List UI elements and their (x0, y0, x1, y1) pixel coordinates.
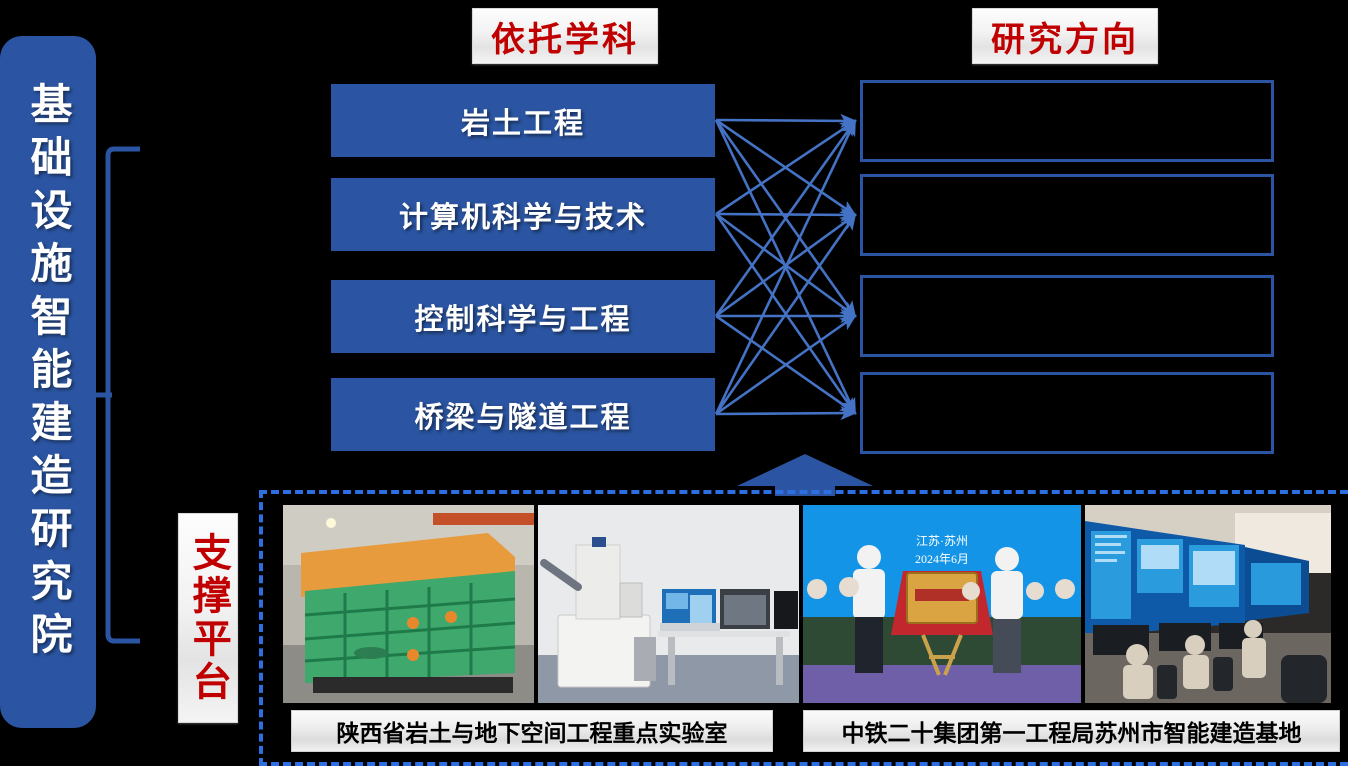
platform-caption-1: 中铁二十集团第一工程局苏州市智能建造基地 (803, 710, 1340, 752)
connector-0-0 (716, 120, 855, 121)
platform-caption-0: 陕西省岩土与地下空间工程重点实验室 (291, 710, 773, 752)
connector-1-0 (716, 121, 855, 214)
header-chip-disciplines-label: 依托学科 (491, 12, 639, 61)
discipline-label-2: 控制科学与工程 (414, 296, 631, 338)
svg-text:2024年6月: 2024年6月 (915, 552, 969, 566)
institute-banner-label: 基础设施智能建造研究院 (27, 82, 69, 665)
discipline-label-3: 桥梁与隧道工程 (414, 394, 631, 436)
research-direction-box-1[interactable] (860, 174, 1274, 256)
research-direction-box-3[interactable] (860, 372, 1274, 454)
connector-1-2 (716, 214, 855, 316)
connector-0-1 (716, 120, 855, 215)
header-chip-directions-label: 研究方向 (991, 12, 1139, 61)
svg-text:江苏·苏州: 江苏·苏州 (916, 534, 968, 548)
photo-smart-control-room[interactable] (1085, 505, 1331, 703)
photo-electron-microscope-lab[interactable] (538, 505, 799, 703)
photo-unveiling-ceremony[interactable]: 江苏·苏州 2024年6月 (803, 505, 1081, 703)
header-chip-support-label: 支撑平台 (188, 532, 229, 704)
research-direction-box-2[interactable] (860, 275, 1274, 357)
discipline-box-0[interactable]: 岩土工程 (331, 84, 715, 157)
connector-2-3 (716, 316, 855, 413)
bracket-mid-tick (60, 388, 120, 402)
connector-3-3 (716, 413, 855, 414)
research-direction-box-0[interactable] (860, 80, 1274, 162)
discipline-label-1: 计算机科学与技术 (399, 194, 647, 236)
institute-banner: 基础设施智能建造研究院 (0, 36, 96, 728)
platform-caption-0-label: 陕西省岩土与地下空间工程重点实验室 (337, 714, 728, 748)
connector-1-3 (716, 214, 855, 413)
discipline-label-0: 岩土工程 (461, 100, 585, 142)
header-chip-directions: 研究方向 (972, 8, 1158, 64)
connector-0-2 (716, 120, 855, 316)
discipline-box-3[interactable]: 桥梁与隧道工程 (331, 378, 715, 451)
connector-3-1 (716, 215, 855, 414)
header-chip-support: 支撑平台 (178, 513, 238, 723)
photo-strip: 江苏·苏州 2024年6月 (283, 505, 1331, 703)
discipline-box-2[interactable]: 控制科学与工程 (331, 280, 715, 353)
diagram-canvas: 基础设施智能建造研究院 依托学科 研究方向 岩土工程 计算机科学与技术 控制科学… (0, 0, 1348, 766)
connector-3-0 (716, 121, 855, 414)
connector-2-0 (716, 121, 855, 316)
discipline-box-1[interactable]: 计算机科学与技术 (331, 178, 715, 251)
connector-0-3 (716, 120, 855, 413)
photo-green-orange-steel-test-structure[interactable] (283, 505, 534, 703)
header-chip-disciplines: 依托学科 (472, 8, 658, 64)
platform-caption-1-label: 中铁二十集团第一工程局苏州市智能建造基地 (842, 714, 1302, 748)
connector-2-1 (716, 215, 855, 316)
connector-3-2 (716, 316, 855, 414)
connector-1-1 (716, 214, 855, 215)
